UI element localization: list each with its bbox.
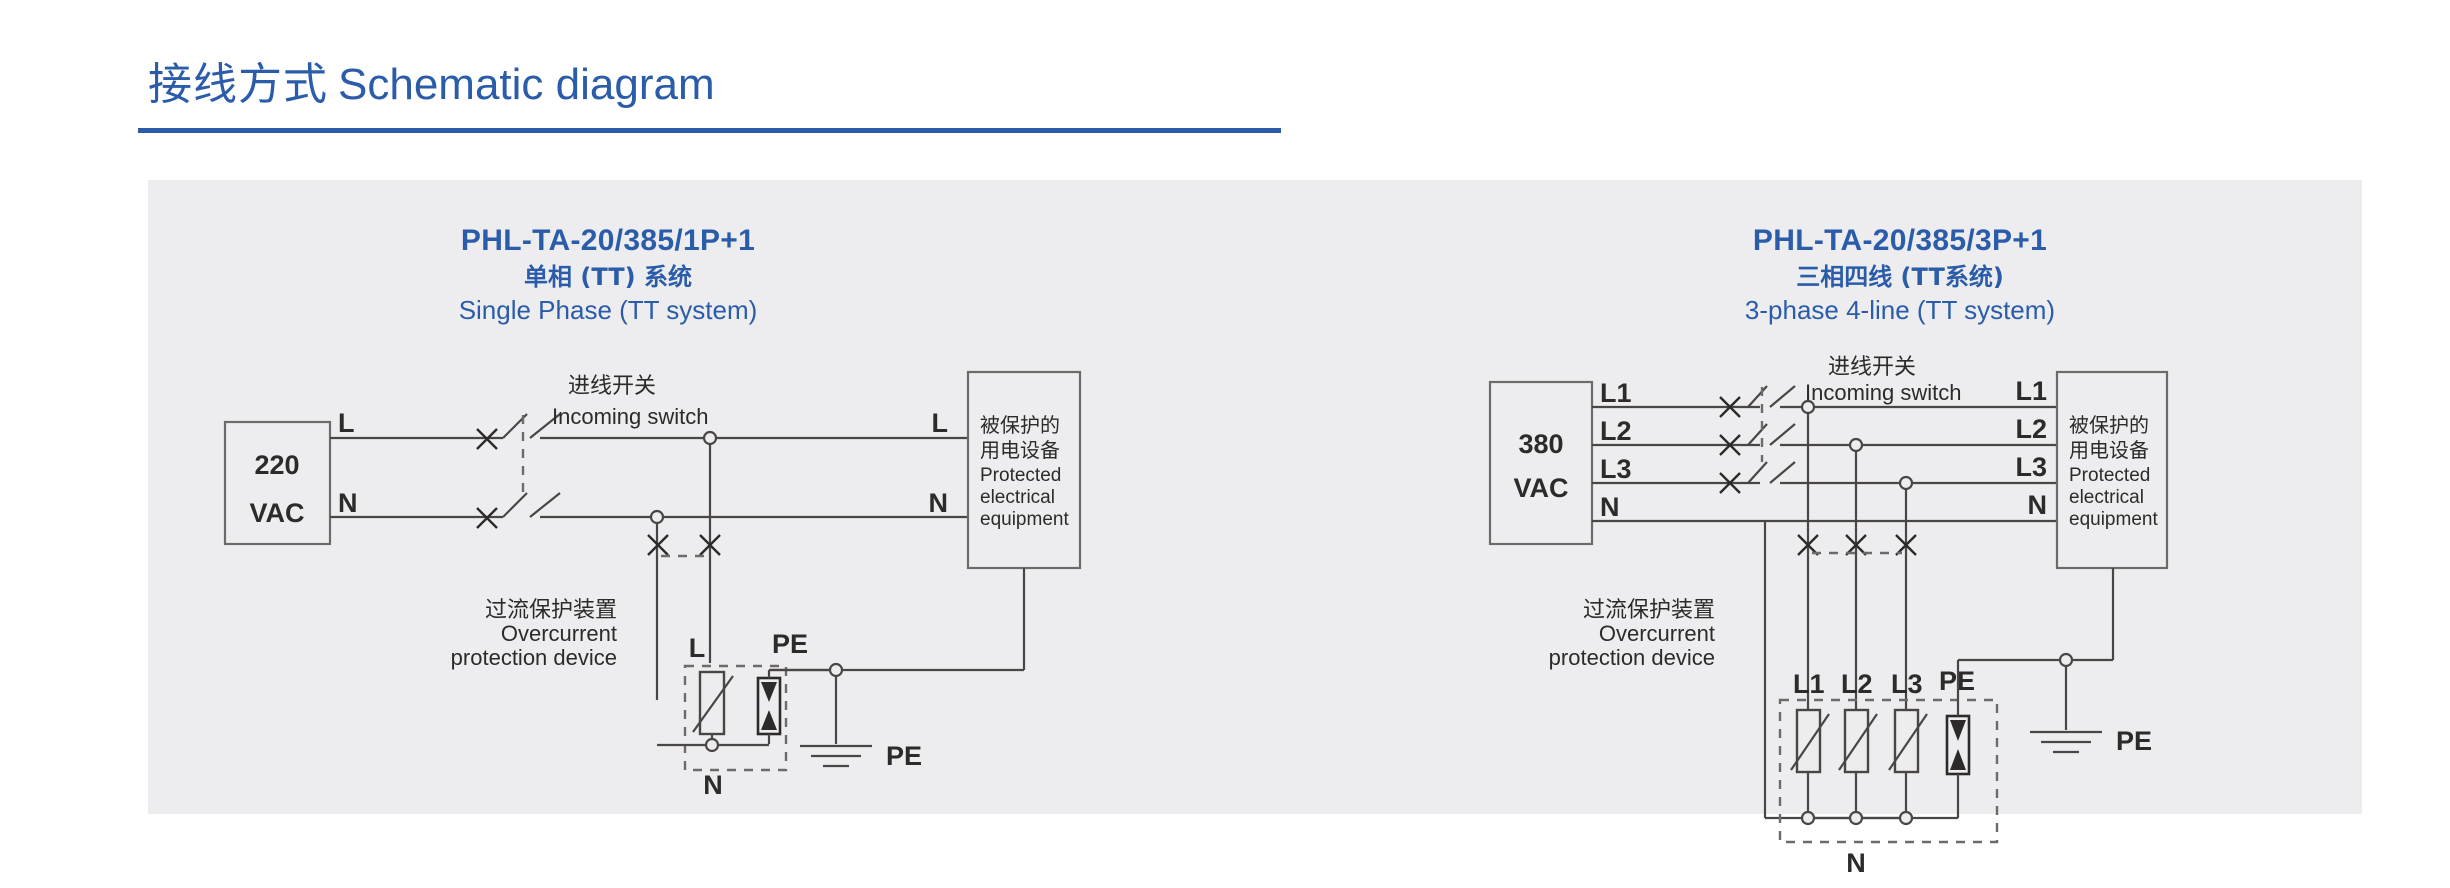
diagram-title-single-phase: PHL-TA-20/385/1P+1 单相 (TT) 系统 Single Pha… xyxy=(368,222,848,328)
subtitle-en-three-phase: 3-phase 4-line (TT system) xyxy=(1660,294,2140,328)
page-title: 接线方式Schematic diagram xyxy=(148,48,715,112)
subtitle-cn-three-phase: 三相四线 (TT系统) xyxy=(1660,260,2140,295)
title-underline xyxy=(138,128,1281,133)
page-title-en: Schematic diagram xyxy=(338,60,715,109)
subtitle-en-single-phase: Single Phase (TT system) xyxy=(368,294,848,328)
model-label-single-phase: PHL-TA-20/385/1P+1 xyxy=(368,222,848,260)
subtitle-cn-single-phase: 单相 (TT) 系统 xyxy=(368,260,848,295)
spd-terminal-N: N xyxy=(1846,848,1866,878)
page-title-cn: 接线方式 xyxy=(148,59,328,110)
model-label-three-phase: PHL-TA-20/385/3P+1 xyxy=(1660,222,2140,260)
diagram-title-three-phase: PHL-TA-20/385/3P+1 三相四线 (TT系统) 3-phase 4… xyxy=(1660,222,2140,328)
page-root: 接线方式Schematic diagram PHL-TA-20/385/1P+1… xyxy=(0,0,2450,888)
